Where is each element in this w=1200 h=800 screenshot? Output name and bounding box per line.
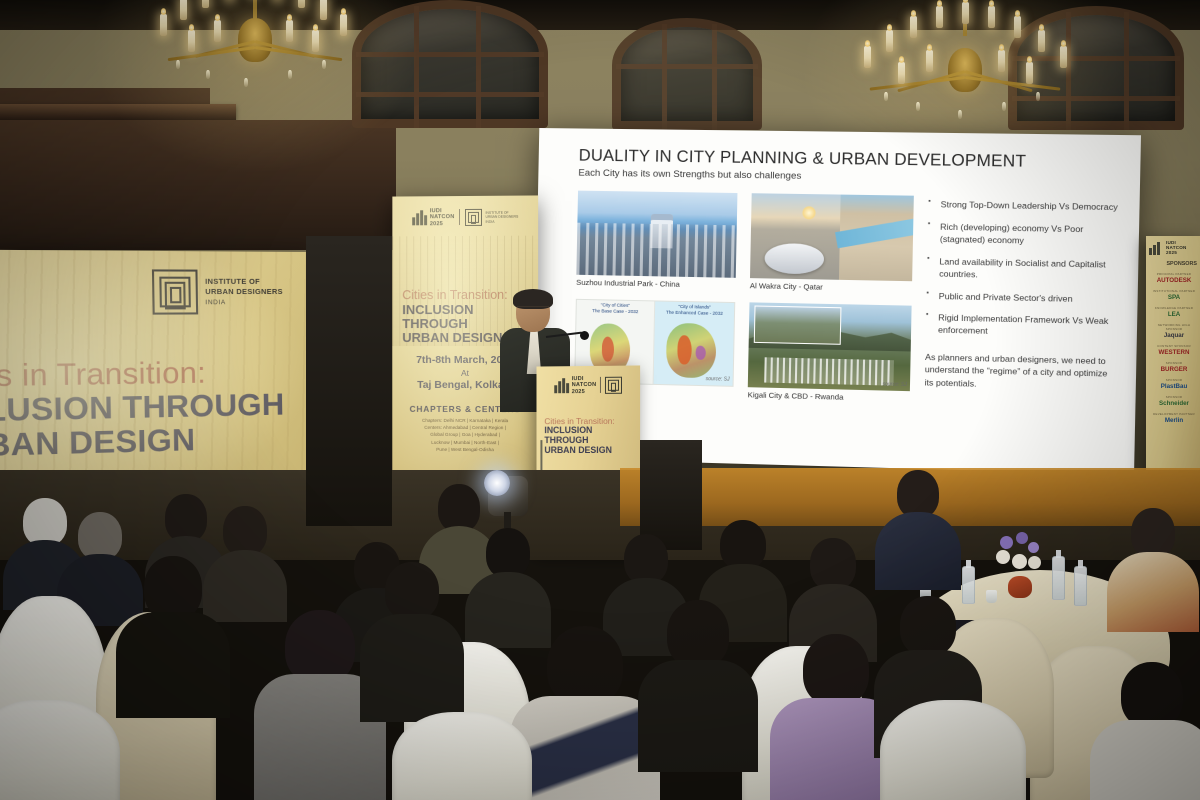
audience-chair <box>880 700 1026 800</box>
map-label-line2: The Base Case - 2032 <box>592 308 638 314</box>
natcon-text: IUDI NATCON 2025 <box>572 376 597 395</box>
sponsor-tier-label: SPONSOR <box>1149 395 1199 399</box>
institute-name-line3: INDIA <box>485 219 494 223</box>
photo-caption: Kigali City & CBD - Rwanda <box>748 390 910 403</box>
chandelier-left <box>140 0 370 124</box>
standee-logo-row: IUDI NATCON 2025 INSTITUTE OF URBAN DESI… <box>398 208 532 228</box>
institute-logo: INSTITUTE OF URBAN DESIGNERS INDIA <box>152 269 283 314</box>
institute-spiral-icon <box>465 209 482 226</box>
sponsor-logo: Jaquar <box>1149 332 1199 339</box>
natcon-line2: NATCON <box>430 214 455 220</box>
drinking-glass <box>986 590 997 603</box>
sponsor-tier: SPONSOR BURGER <box>1149 361 1199 373</box>
water-bottle <box>1052 556 1065 600</box>
sponsor-tier-label: CONTENT SPONSOR <box>1149 344 1199 348</box>
photo-caption: Al Wakra City - Qatar <box>750 281 912 293</box>
institute-name-line3: INDIA <box>205 299 226 306</box>
natcon-logo: IUDI NATCON 2025 <box>554 376 596 395</box>
logo-divider <box>600 377 601 393</box>
map-label-line1: "City of Islands" <box>678 304 711 310</box>
logo-divider <box>459 209 460 225</box>
slide-bullet: Land availability in Socialist and Capit… <box>927 255 1118 284</box>
map-label-line2: The Enhanced Case - 2032 <box>666 309 723 315</box>
chapters-line5: Pune | West Bengal-Odisha <box>398 446 532 454</box>
institute-name-line2: URBAN DESIGNERS <box>485 215 518 219</box>
natcon-logo: IUDI NATCON 2025 <box>412 208 455 227</box>
slide-bullet: Strong Top-Down Leadership Vs Democracy <box>928 198 1118 213</box>
audience-member <box>362 562 462 722</box>
natcon-text: IUDI NATCON 2025 <box>1166 240 1187 255</box>
conference-photograph: DUALITY IN CITY PLANNING & URBAN DEVELOP… <box>0 0 1200 800</box>
institute-spiral-icon <box>605 377 622 394</box>
institute-spiral-icon <box>152 269 198 314</box>
natcon-line3: 2025 <box>1166 250 1187 255</box>
sponsor-tier: SPONSOR PlastBau <box>1149 378 1199 390</box>
sponsor-tier: KNOWLEDGE PARTNER LEA <box>1149 306 1199 318</box>
slide-bullet-panel: Strong Top-Down Leadership Vs Democracy … <box>910 196 1119 409</box>
natcon-line3: 2025 <box>572 388 597 394</box>
podium-title-line3: URBAN DESIGN <box>544 446 632 456</box>
natcon-logo: IUDI NATCON 2025 <box>1149 240 1199 255</box>
sponsor-logo: LEA <box>1149 311 1199 318</box>
sponsor-logo: Schneider <box>1149 400 1199 407</box>
sponsor-banner: IUDI NATCON 2025 SPONSORS PRINCIPAL PART… <box>1146 236 1200 486</box>
table-floral-centerpiece <box>990 536 1050 598</box>
sponsor-tier-label: KNOWLEDGE PARTNER <box>1149 306 1199 310</box>
map-label-line1: "City of Cities" <box>601 302 630 308</box>
flower-vase <box>1008 576 1032 598</box>
sponsor-tier: PRINCIPAL PARTNER AUTODESK <box>1149 272 1199 284</box>
audience-member <box>512 626 658 800</box>
sponsor-logo: AUTODESK <box>1149 277 1199 284</box>
natcon-line2: NATCON <box>572 382 597 388</box>
audience-chair <box>392 712 532 800</box>
audience-member <box>1092 662 1200 800</box>
audience-member <box>876 470 960 588</box>
photo-source-note: source: SJ <box>706 376 730 383</box>
sponsor-tier: INSTITUTIONAL PARTNER SPA <box>1149 289 1199 301</box>
slide-bullet: Public and Private Sector's driven <box>926 289 1116 305</box>
speaker-eyeglasses <box>517 306 549 313</box>
slide-bullet: Rich (developing) economy Vs Poor (stagn… <box>927 220 1118 248</box>
audience-member <box>1108 508 1198 628</box>
wood-wainscot <box>0 120 396 250</box>
slide-bullet: Rigid Implementation Framework Vs Weak e… <box>925 311 1116 340</box>
microphone-icon <box>580 331 589 340</box>
natcon-line3: 2025 <box>430 221 455 227</box>
natcon-bars-icon <box>1149 240 1164 255</box>
chapters-list: Chapters: Delhi NCR | Karnataka | Kerala… <box>398 417 532 454</box>
slide-photo-suzhou: Suzhou Industrial Park - China <box>576 191 737 290</box>
institute-logo-small: INSTITUTE OF URBAN DESIGNERS INDIA <box>465 209 518 226</box>
stage-pillar-left <box>306 236 392 526</box>
institute-name-line2: URBAN DESIGNERS <box>205 287 283 297</box>
photo-caption: Suzhou Industrial Park - China <box>576 278 736 290</box>
sponsor-tier: DEVELOPMENT PARTNER Merlin <box>1149 412 1199 424</box>
sponsor-logo: SPA <box>1149 294 1199 301</box>
sponsor-logo: Merlin <box>1149 417 1199 424</box>
banner-title-line3: RBAN DESIGN <box>0 421 312 464</box>
sponsor-tier: SPONSOR Schneider <box>1149 395 1199 407</box>
water-bottle <box>1074 566 1087 606</box>
slide-photo-kigali: source: SJ Kigali City & CBD - Rwanda <box>748 302 912 403</box>
chandelier-right <box>840 0 1090 150</box>
sponsor-tier-label: SPONSOR <box>1149 361 1199 365</box>
natcon-bars-icon <box>554 378 569 393</box>
sponsor-logo: WESTERN <box>1149 349 1199 356</box>
institute-name-line1: INSTITUTE OF <box>205 276 283 286</box>
sponsor-tier: CONTENT SPONSOR WESTERN <box>1149 344 1199 356</box>
arched-window-left <box>352 0 548 128</box>
podium-title-line2: INCLUSION THROUGH <box>544 426 632 446</box>
sponsor-tier-label: PRINCIPAL PARTNER <box>1149 272 1199 276</box>
institute-name: INSTITUTE OF URBAN DESIGNERS INDIA <box>205 276 283 307</box>
sponsor-tier-label: NETWORKING HIGH SPONSOR <box>1149 323 1199 331</box>
sponsor-tier-label: SPONSOR <box>1149 378 1199 382</box>
slide-photo-alwakra: Al Wakra City - Qatar <box>750 193 914 293</box>
sponsors-heading: SPONSORS <box>1149 261 1199 267</box>
natcon-bars-icon <box>412 210 427 225</box>
natcon-text: IUDI NATCON 2025 <box>430 208 455 227</box>
sponsor-tier-label: INSTITUTIONAL PARTNER <box>1149 289 1199 293</box>
slide-closing-note: As planners and urban designers, we need… <box>924 350 1115 393</box>
banner-left-title: ties in Transition: CLUSION THROUGH RBAN… <box>0 356 312 464</box>
institute-logo-small <box>605 377 622 394</box>
podium-title: Cities in Transition: INCLUSION THROUGH … <box>544 417 632 456</box>
sponsor-logo: BURGER <box>1149 366 1199 373</box>
podium-accent-bar <box>540 440 542 474</box>
audience-member <box>118 556 228 716</box>
sponsor-tier-label: DEVELOPMENT PARTNER <box>1149 412 1199 416</box>
podium-logo-row: IUDI NATCON 2025 <box>544 376 632 395</box>
arched-window-center <box>612 18 762 130</box>
institute-name-small: INSTITUTE OF URBAN DESIGNERS INDIA <box>485 210 518 224</box>
sponsor-tier: NETWORKING HIGH SPONSOR Jaquar <box>1149 323 1199 339</box>
sponsor-logo: PlastBau <box>1149 383 1199 390</box>
audience-member <box>640 600 756 770</box>
photo-source-note: source: SJ <box>882 381 907 388</box>
